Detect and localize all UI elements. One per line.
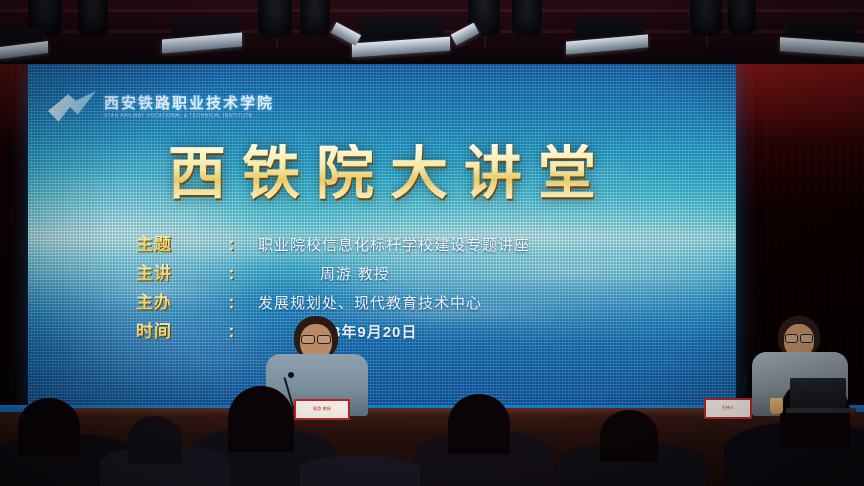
light-hanger (484, 34, 486, 48)
info-colon: ： (228, 264, 242, 284)
stage-light-icon (300, 0, 330, 36)
stage-light-icon (512, 0, 542, 36)
info-label: 时间 (136, 317, 228, 342)
screen-wave (38, 220, 218, 229)
speaker-nameplate-text: 周游 教授 (313, 407, 331, 412)
audience-head (128, 416, 182, 464)
audience-shoulders (300, 456, 420, 486)
info-colon: ： (228, 322, 242, 342)
host-nameplate: 主持人 (704, 398, 752, 419)
info-row-time: 时间 ： 2023年9月20日 (136, 317, 696, 344)
led-display-screen: 西安铁路职业技术学院 XI'AN RAILWAY VOCATIONAL & TE… (28, 62, 736, 412)
stage-light-icon (78, 0, 108, 36)
stage-light-icon (258, 0, 292, 38)
info-value: 发展规划处、现代教育技术中心 (258, 292, 482, 313)
audience-head (228, 386, 294, 452)
school-name-cn: 西安铁路职业技术学院 (104, 95, 274, 112)
stage-light-icon (728, 0, 756, 34)
screen-info-block: 主题 ： 职业院校信息化标杆学校建设专题讲座 主讲 ： 周游 教授 主办 ： 发… (136, 230, 696, 346)
photo-canvas: 西安铁路职业技术学院 XI'AN RAILWAY VOCATIONAL & TE… (0, 0, 864, 486)
audience-head (18, 398, 80, 456)
glasses-icon (301, 335, 315, 344)
info-row-speaker: 主讲 ： 周游 教授 (136, 259, 696, 286)
info-row-topic: 主题 ： 职业院校信息化标杆学校建设专题讲座 (136, 230, 696, 257)
laptop-screen (790, 378, 846, 410)
glasses-icon (317, 335, 331, 344)
info-label: 主讲 (136, 259, 228, 284)
audience-head (448, 394, 510, 454)
glasses-icon (800, 334, 813, 343)
info-label: 主题 (136, 230, 228, 255)
stage-light-icon (690, 0, 722, 36)
school-name-en: XI'AN RAILWAY VOCATIONAL & TECHNICAL INS… (104, 113, 274, 119)
paper-cup (770, 398, 783, 414)
screen-title: 西铁院大讲堂 (28, 144, 736, 202)
audience-head (600, 410, 658, 462)
laptop-base (786, 408, 850, 413)
glasses-icon (785, 334, 798, 343)
speaker-nameplate: 周游 教授 (294, 399, 350, 420)
info-colon: ： (228, 235, 242, 255)
info-colon: ： (228, 293, 242, 313)
school-logo-text: 西安铁路职业技术学院 XI'AN RAILWAY VOCATIONAL & TE… (104, 95, 274, 120)
info-value: 周游 教授 (320, 263, 390, 284)
school-logo: 西安铁路职业技术学院 XI'AN RAILWAY VOCATIONAL & TE… (46, 84, 336, 130)
info-label: 主办 (136, 288, 228, 313)
host-nameplate-text: 主持人 (722, 406, 735, 411)
school-emblem-icon (46, 87, 98, 127)
info-value: 职业院校信息化标杆学校建设专题讲座 (258, 234, 530, 255)
info-row-organizer: 主办 ： 发展规划处、现代教育技术中心 (136, 288, 696, 315)
